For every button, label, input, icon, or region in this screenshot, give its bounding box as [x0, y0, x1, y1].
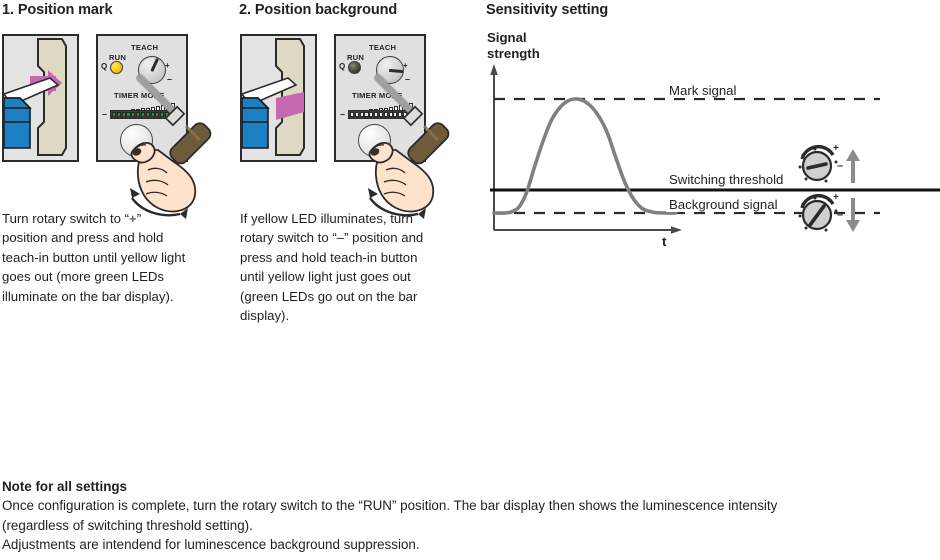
sensor-control-panel-2[interactable]: RUN TEACH TIMER MODE Q + – – +	[334, 34, 426, 162]
mark-detection-diagram	[4, 36, 77, 160]
step-2-heading: 2. Position background	[239, 2, 397, 18]
rotary-knob-icon-up: + –	[799, 143, 844, 183]
teach-label-2: TEACH	[369, 43, 396, 52]
dial-minus-label-2: –	[405, 74, 410, 84]
dial-plus-label-2: +	[403, 61, 408, 70]
q-output-label-1: Q	[101, 62, 107, 71]
teach-label-1: TEACH	[131, 43, 158, 52]
bar-plus-label-2: +	[417, 109, 422, 119]
step-1-heading: 1. Position mark	[2, 2, 112, 18]
q-output-label-2: Q	[339, 62, 345, 71]
signal-curve	[494, 99, 676, 213]
bar-segments-2	[348, 110, 414, 119]
x-axis-label: t	[662, 234, 666, 249]
note-title: Note for all settings	[2, 478, 938, 496]
teach-in-button-2[interactable]	[358, 124, 391, 157]
bar-display-1: – +	[102, 106, 186, 123]
rotary-knob-icon-down: + –	[799, 192, 844, 232]
bar-display-2: – +	[340, 106, 424, 123]
yellow-led-indicator-2	[348, 61, 361, 74]
arrow-up-icon	[846, 149, 860, 183]
svg-text:+: +	[833, 192, 839, 203]
yellow-led-indicator-1	[110, 61, 123, 74]
chart-plot	[486, 30, 940, 260]
timer-mode-label-1: TIMER MODE	[114, 91, 165, 100]
decrease-threshold-annotation: + –	[793, 190, 863, 238]
reference-lines	[490, 99, 940, 213]
scene-position-background	[240, 34, 317, 162]
y-axis-label: Signal strength	[487, 30, 540, 61]
sensitivity-setting-heading: Sensitivity setting	[486, 2, 608, 18]
background-detection-diagram	[242, 36, 315, 160]
dial-plus-label-1: +	[165, 61, 170, 70]
svg-text:–: –	[837, 160, 843, 172]
increase-threshold-annotation: + –	[793, 141, 863, 189]
sensor-control-panel-1[interactable]: RUN TEACH TIMER MODE Q + – – +	[96, 34, 188, 162]
sensitivity-chart: Signal strength t Mark signal Switching …	[486, 30, 940, 260]
mark-signal-label: Mark signal	[666, 83, 739, 98]
teach-in-button-1[interactable]	[120, 124, 153, 157]
note-line: Once configuration is complete, turn the…	[2, 496, 938, 516]
rotary-switch-1[interactable]: + –	[134, 52, 170, 88]
arrow-down-icon	[846, 198, 860, 232]
dial-minus-label-1: –	[167, 74, 172, 84]
bar-minus-label-2: –	[340, 109, 345, 119]
svg-text:+: +	[833, 143, 839, 154]
scene-position-mark	[2, 34, 79, 162]
timer-mode-label-2: TIMER MODE	[352, 91, 403, 100]
step-1-instruction-text: Turn rotary switch to “+” position and p…	[2, 209, 188, 306]
background-signal-label: Background signal	[666, 197, 781, 212]
note-line: Adjustments are intendend for luminescen…	[2, 535, 938, 555]
bar-minus-label-1: –	[102, 109, 107, 119]
bar-segments-1	[110, 110, 176, 119]
rotary-switch-2[interactable]: + –	[372, 52, 408, 88]
step-2-instruction-text: If yellow LED illuminates, turn rotary s…	[240, 209, 426, 325]
note-line: (regardless of switching threshold setti…	[2, 516, 938, 536]
switching-threshold-label: Switching threshold	[666, 172, 786, 187]
note-section: Note for all settings Once configuration…	[2, 478, 938, 555]
bar-plus-label-1: +	[179, 109, 184, 119]
svg-text:–: –	[837, 209, 843, 221]
